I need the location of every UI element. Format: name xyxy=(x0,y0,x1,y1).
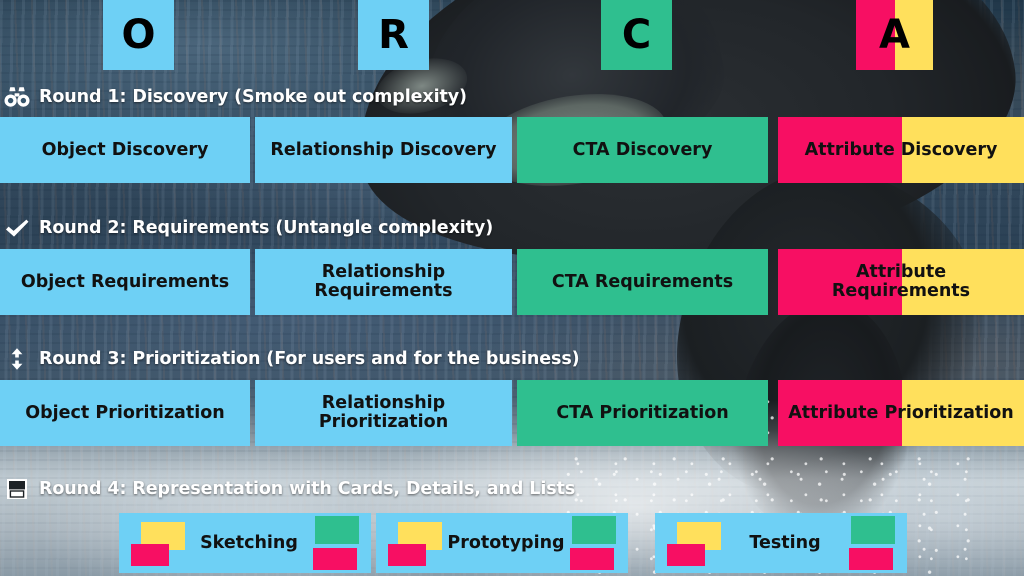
binoculars-icon xyxy=(4,85,30,109)
activity-label: CTA Prioritization xyxy=(550,404,734,423)
activity-card-cta-discovery[interactable]: CTA Discovery xyxy=(517,117,768,183)
round-3-title: Round 3: Prioritization (For users and f… xyxy=(39,349,580,369)
checkmark-icon xyxy=(4,216,30,240)
activity-label: Relationship Requirements xyxy=(255,263,512,301)
letter-tile-r: R xyxy=(358,0,429,70)
activity-card-sketching[interactable]: Sketching xyxy=(119,513,371,573)
list-detail-icon xyxy=(849,516,895,570)
letter-o-text: O xyxy=(121,15,155,55)
activity-label: Object Prioritization xyxy=(19,404,230,423)
pink-card-shape xyxy=(388,544,426,566)
letter-tile-a: A xyxy=(856,0,933,70)
activity-card-relationship-discovery[interactable]: Relationship Discovery xyxy=(255,117,512,183)
letter-tile-c: C xyxy=(601,0,672,70)
activity-card-object-prioritization[interactable]: Object Prioritization xyxy=(0,380,250,446)
activity-label: Sketching xyxy=(185,533,313,553)
activity-card-object-discovery[interactable]: Object Discovery xyxy=(0,117,250,183)
round-4-header: Round 4: Representation with Cards, Deta… xyxy=(0,474,1024,504)
letter-a-text: A xyxy=(879,15,910,55)
activity-label: Attribute Requirements xyxy=(778,263,1024,301)
activity-card-relationship-requirements[interactable]: Relationship Requirements xyxy=(255,249,512,315)
activity-label: Relationship Prioritization xyxy=(255,394,512,432)
round-4-row: Sketching Prototyping Testing xyxy=(0,513,1024,573)
pink-card-shape xyxy=(667,544,705,566)
activity-card-relationship-prioritization[interactable]: Relationship Prioritization xyxy=(255,380,512,446)
letter-r-text: R xyxy=(378,15,409,55)
card-sketch-icon xyxy=(667,520,721,566)
round-3-block: Round 3: Prioritization (For users and f… xyxy=(0,344,1024,446)
activity-label: Attribute Prioritization xyxy=(782,404,1020,423)
activity-card-attribute-discovery[interactable]: Attribute Discovery xyxy=(778,117,1024,183)
letter-tile-o: O xyxy=(103,0,174,70)
green-list-shape xyxy=(572,516,616,544)
activity-label: CTA Discovery xyxy=(567,141,719,160)
activity-label: Prototyping xyxy=(442,533,570,553)
card-sketch-icon xyxy=(388,520,442,566)
activity-card-prototyping[interactable]: Prototyping xyxy=(376,513,628,573)
round-1-title: Round 1: Discovery (Smoke out complexity… xyxy=(39,87,467,107)
activity-label: Attribute Discovery xyxy=(799,141,1004,160)
activity-label: Object Discovery xyxy=(36,141,215,160)
activity-card-object-requirements[interactable]: Object Requirements xyxy=(0,249,250,315)
pink-list-shape xyxy=(849,548,893,570)
activity-card-attribute-requirements[interactable]: Attribute Requirements xyxy=(778,249,1024,315)
round-1-block: Round 1: Discovery (Smoke out complexity… xyxy=(0,82,1024,183)
round-1-header: Round 1: Discovery (Smoke out complexity… xyxy=(0,82,1024,112)
activity-label: Testing xyxy=(721,533,849,553)
activity-card-testing[interactable]: Testing xyxy=(655,513,907,573)
pink-list-shape xyxy=(570,548,614,570)
round-2-header: Round 2: Requirements (Untangle complexi… xyxy=(0,213,1024,243)
activity-card-cta-requirements[interactable]: CTA Requirements xyxy=(517,249,768,315)
round-2-block: Round 2: Requirements (Untangle complexi… xyxy=(0,213,1024,315)
round-3-header: Round 3: Prioritization (For users and f… xyxy=(0,344,1024,374)
green-list-shape xyxy=(315,516,359,544)
card-detail-icon xyxy=(4,477,30,501)
activity-label: Object Requirements xyxy=(15,273,235,292)
letter-c-text: C xyxy=(622,15,651,55)
activity-label: Relationship Discovery xyxy=(264,141,502,160)
card-sketch-icon xyxy=(131,520,185,566)
round-3-row: Object Prioritization Relationship Prior… xyxy=(0,380,1024,446)
round-4-title: Round 4: Representation with Cards, Deta… xyxy=(39,479,575,499)
up-down-arrow-icon xyxy=(4,347,30,371)
round-1-row: Object Discovery Relationship Discovery … xyxy=(0,117,1024,183)
round-2-row: Object Requirements Relationship Require… xyxy=(0,249,1024,315)
list-detail-icon xyxy=(570,516,616,570)
orca-acronym-row: O R C A xyxy=(0,0,1024,70)
pink-list-shape xyxy=(313,548,357,570)
list-detail-icon xyxy=(313,516,359,570)
activity-card-attribute-prioritization[interactable]: Attribute Prioritization xyxy=(778,380,1024,446)
round-2-title: Round 2: Requirements (Untangle complexi… xyxy=(39,218,493,238)
activity-label: CTA Requirements xyxy=(546,273,739,292)
green-list-shape xyxy=(851,516,895,544)
activity-card-cta-prioritization[interactable]: CTA Prioritization xyxy=(517,380,768,446)
pink-card-shape xyxy=(131,544,169,566)
round-4-block: Round 4: Representation with Cards, Deta… xyxy=(0,474,1024,573)
